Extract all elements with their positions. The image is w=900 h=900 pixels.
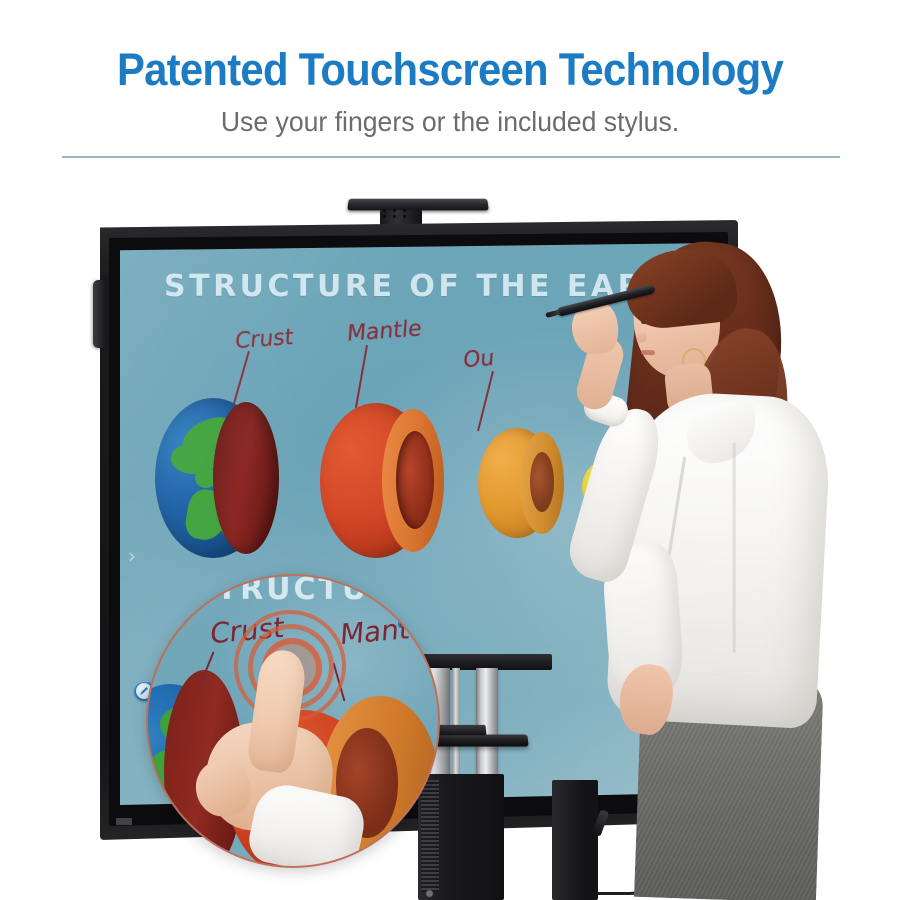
nose [637,330,648,343]
lips [641,350,655,355]
fabric-fold [733,443,736,653]
header-divider [62,156,840,158]
header: Patented Touchscreen Technology Use your… [0,0,900,168]
page-title: Patented Touchscreen Technology [32,44,869,96]
product-photo-scene: STRUCTURE OF THE EARTH Crust Mantle Ou [0,168,900,900]
presenter [560,168,900,900]
collar [683,400,760,466]
page-subtitle: Use your fingers or the included stylus. [23,106,878,138]
power-button-icon[interactable] [426,890,433,897]
page-root: Patented Touchscreen Technology Use your… [0,0,900,900]
magnified-board-title: STRUCTURE [192,574,419,607]
magnifier-inset: STRUCTURE Crust Mantle [146,574,440,868]
